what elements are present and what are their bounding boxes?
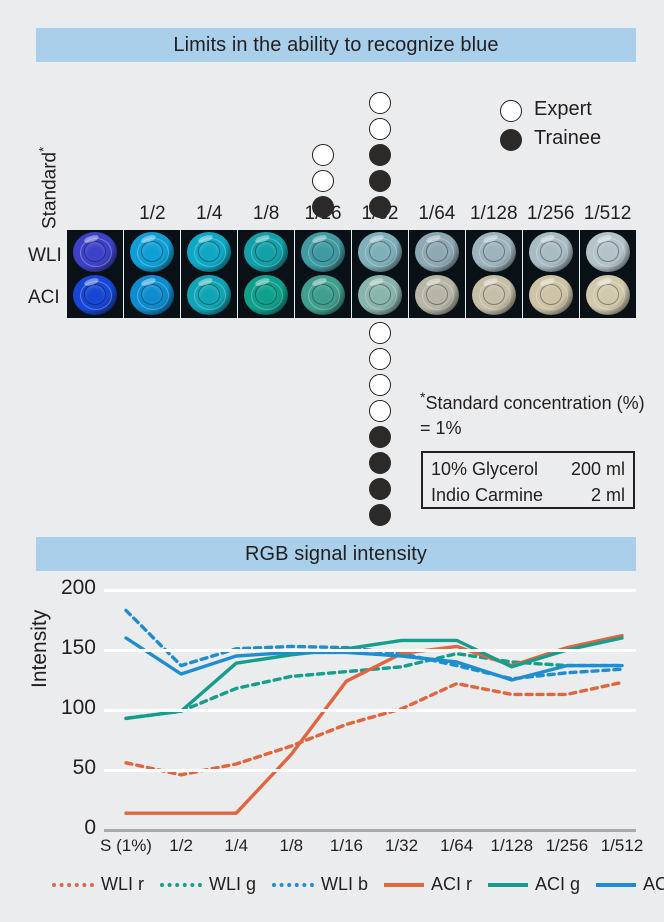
well-highlight	[197, 234, 213, 245]
well-highlight	[83, 277, 99, 288]
trainee-dot	[369, 478, 391, 500]
dot-legend-trainee-label: Trainee	[534, 127, 601, 150]
trainee-dot	[369, 196, 391, 218]
well-image-aci	[529, 275, 573, 315]
well-image-aci	[73, 275, 117, 315]
well-cell	[181, 230, 238, 318]
recipe-ingredient-amount: 200 ml	[563, 456, 625, 482]
well-highlight	[596, 234, 612, 245]
well-image-wli	[472, 232, 516, 272]
column-label-1-512: 1/512	[568, 203, 648, 225]
rgb-intensity-chart: Intensity 050100150200 S (1%)1/21/41/81/…	[36, 580, 636, 910]
legend-label: WLI r	[101, 874, 144, 895]
well-highlight	[311, 234, 327, 245]
well-highlight	[368, 234, 384, 245]
gridline	[104, 769, 636, 772]
legend-label: ACI r	[431, 874, 472, 895]
x-axis-tick: S (1%)	[100, 836, 152, 856]
well-inner-ring	[84, 241, 107, 263]
well-image-aci	[586, 275, 630, 315]
expert-dot	[369, 400, 391, 422]
well-inner-ring	[597, 241, 620, 263]
well-highlight	[140, 277, 156, 288]
legend-item-aci-b: ACI b	[596, 874, 664, 895]
well-highlight	[197, 277, 213, 288]
well-inner-ring	[597, 284, 620, 306]
well-image-aci	[130, 275, 174, 315]
well-highlight	[482, 277, 498, 288]
trainee-dot-icon	[500, 129, 522, 151]
well-highlight	[254, 234, 270, 245]
x-axis-tick: 1/4	[224, 836, 248, 856]
well-highlight	[539, 234, 555, 245]
chart-plot-area	[104, 590, 636, 830]
well-image-aci	[415, 275, 459, 315]
trainee-dot	[369, 426, 391, 448]
well-image-aci	[472, 275, 516, 315]
well-inner-ring	[255, 241, 278, 263]
panel-title-limits: Limits in the ability to recognize blue	[36, 28, 636, 62]
legend-swatch	[596, 883, 636, 887]
recipe-ingredient-amount: 2 ml	[583, 482, 625, 508]
recipe-ingredient-name: 10% Glycerol	[431, 456, 538, 482]
series-line-aci-r	[126, 636, 622, 814]
gridline	[104, 709, 636, 712]
well-image-wli	[130, 232, 174, 272]
y-axis-tick: 150	[36, 636, 96, 660]
expert-dot-icon	[500, 100, 522, 122]
standard-concentration-footnote: *Standard concentration (%) = 1%	[420, 385, 650, 441]
well-image-wli	[244, 232, 288, 272]
well-image-wli	[73, 232, 117, 272]
well-image-wli	[529, 232, 573, 272]
footnote-text: Standard concentration (%) = 1%	[420, 393, 645, 438]
well-highlight	[254, 277, 270, 288]
x-axis-tick: 1/32	[385, 836, 418, 856]
x-axis-tick: 1/2	[169, 836, 193, 856]
y-axis-tick: 100	[36, 696, 96, 720]
legend-swatch	[488, 883, 528, 887]
trainee-dot	[369, 144, 391, 166]
well-cell	[124, 230, 181, 318]
legend-swatch	[160, 883, 202, 887]
y-axis-tick: 0	[36, 816, 96, 840]
figure-root: Limits in the ability to recognize blue …	[0, 0, 664, 922]
well-highlight	[140, 234, 156, 245]
gridline	[104, 589, 636, 592]
x-axis-tick: 1/16	[330, 836, 363, 856]
well-inner-ring	[540, 284, 563, 306]
well-image-wli	[586, 232, 630, 272]
well-inner-ring	[198, 241, 221, 263]
expert-dot	[369, 118, 391, 140]
legend-item-aci-g: ACI g	[488, 874, 580, 895]
well-inner-ring	[540, 241, 563, 263]
recipe-row: Indio Carmine 2 ml	[431, 482, 625, 508]
gridline	[104, 649, 636, 652]
expert-dot	[369, 348, 391, 370]
expert-dot	[312, 170, 334, 192]
y-axis-tick: 200	[36, 576, 96, 600]
solution-recipe-box: 10% Glycerol 200 ml Indio Carmine 2 ml	[421, 451, 635, 509]
trainee-dot	[369, 504, 391, 526]
well-highlight	[311, 277, 327, 288]
well-inner-ring	[483, 241, 506, 263]
well-inner-ring	[312, 284, 335, 306]
legend-label: ACI b	[643, 874, 664, 895]
well-inner-ring	[369, 241, 392, 263]
standard-column-label-text: Standard	[39, 152, 60, 229]
well-image-aci	[301, 275, 345, 315]
recipe-row: 10% Glycerol 200 ml	[431, 456, 625, 482]
well-image-aci	[358, 275, 402, 315]
chart-legend: WLI rWLI gWLI bACI rACI gACI b	[56, 874, 664, 895]
legend-label: WLI b	[321, 874, 368, 895]
well-highlight	[539, 277, 555, 288]
standard-footnote-marker: *	[36, 147, 51, 152]
dot-legend-trainee: Trainee	[500, 127, 650, 156]
expert-dot	[369, 374, 391, 396]
well-highlight	[425, 277, 441, 288]
legend-label: WLI g	[209, 874, 256, 895]
well-inner-ring	[426, 241, 449, 263]
well-inner-ring	[141, 284, 164, 306]
well-cell	[466, 230, 523, 318]
legend-item-wli-b: WLI b	[272, 874, 368, 895]
standard-column-label: Standard*	[36, 109, 58, 229]
y-axis-tick: 50	[36, 756, 96, 780]
well-image-wli	[187, 232, 231, 272]
x-axis-tick: 1/128	[490, 836, 533, 856]
legend-label: ACI g	[535, 874, 580, 895]
legend-item-aci-r: ACI r	[384, 874, 472, 895]
x-axis-line	[104, 829, 636, 832]
well-highlight	[425, 234, 441, 245]
well-cell	[523, 230, 580, 318]
well-cell	[67, 230, 124, 318]
well-inner-ring	[198, 284, 221, 306]
legend-swatch	[52, 883, 94, 887]
well-inner-ring	[426, 284, 449, 306]
x-axis-tick: 1/64	[440, 836, 473, 856]
well-cell	[580, 230, 636, 318]
well-highlight	[596, 277, 612, 288]
expert-dot	[369, 92, 391, 114]
x-axis-tick: 1/256	[546, 836, 589, 856]
well-image-aci	[187, 275, 231, 315]
dot-legend: Expert Trainee	[500, 98, 650, 156]
well-image-strip	[67, 230, 636, 318]
well-inner-ring	[84, 284, 107, 306]
dot-legend-expert-label: Expert	[534, 98, 592, 121]
well-image-wli	[358, 232, 402, 272]
legend-item-wli-g: WLI g	[160, 874, 256, 895]
well-inner-ring	[369, 284, 392, 306]
expert-dot	[369, 322, 391, 344]
well-inner-ring	[141, 241, 164, 263]
well-image-wli	[415, 232, 459, 272]
well-cell	[409, 230, 466, 318]
x-axis-tick: 1/8	[280, 836, 304, 856]
legend-swatch	[272, 883, 314, 887]
well-cell	[295, 230, 352, 318]
well-cell	[238, 230, 295, 318]
well-highlight	[368, 277, 384, 288]
trainee-dot	[369, 452, 391, 474]
trainee-dot	[369, 170, 391, 192]
panel-title-rgb: RGB signal intensity	[36, 537, 636, 571]
well-image-wli	[301, 232, 345, 272]
x-axis-tick: 1/512	[601, 836, 644, 856]
well-highlight	[83, 234, 99, 245]
well-inner-ring	[255, 284, 278, 306]
dot-legend-expert: Expert	[500, 98, 650, 127]
recipe-ingredient-name: Indio Carmine	[431, 482, 543, 508]
well-inner-ring	[483, 284, 506, 306]
row-label-aci: ACI	[28, 287, 68, 309]
well-image-aci	[244, 275, 288, 315]
legend-swatch	[384, 883, 424, 887]
expert-dot	[312, 144, 334, 166]
row-label-wli: WLI	[28, 245, 68, 267]
legend-item-wli-r: WLI r	[52, 874, 144, 895]
trainee-dot	[312, 196, 334, 218]
well-cell	[352, 230, 409, 318]
well-inner-ring	[312, 241, 335, 263]
well-highlight	[482, 234, 498, 245]
